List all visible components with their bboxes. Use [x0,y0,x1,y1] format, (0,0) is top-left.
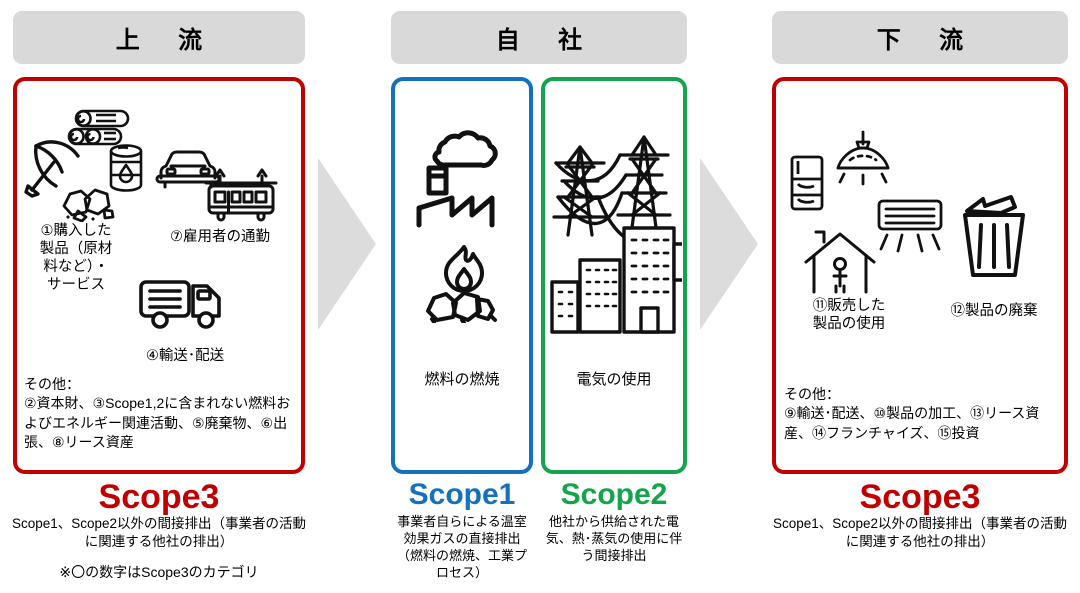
downstream-others-text: ⑨輸送･配送、⑩製品の加工、⑬リース資産、⑭フランチャイズ、⑮投資 [784,405,1039,440]
header-downstream: 下 流 [772,11,1068,64]
diagram-canvas: 上 流 自 社 下 流 [0,0,1080,593]
scope1-description: 事業者自らによる温室効果ガスの直接排出（燃料の燃焼、工業プロセス） [391,514,533,582]
header-own-company: 自 社 [391,11,687,64]
scope3-description-downstream: Scope1、Scope2以外の間接排出（事業者の活動に関連する他社の排出） [767,515,1073,550]
flame-coal-icon [420,245,508,323]
scope3-description-upstream: Scope1、Scope2以外の間接排出（事業者の活動に関連する他社の排出） [8,515,310,550]
upstream-item-label-purchased-goods: ①購入した 製品（原材 料など）・ サービス [22,222,130,295]
buildings-icon [548,222,682,340]
scope3-title-downstream: Scope3 [772,480,1068,514]
header-upstream: 上 流 [13,11,305,64]
downstream-item-label-use-of-sold-products: ⑪販売した 製品の使用 [790,297,908,333]
trash-bin-icon [955,185,1033,280]
house-person-icon [804,228,876,294]
truck-icon [138,278,224,332]
downstream-item-label-disposal: ⑫製品の廃棄 [930,302,1058,320]
downstream-others-label: その他： [784,386,840,402]
refrigerator-icon [789,155,825,213]
upstream-item-label-employee-commuting: ⑦雇用者の通勤 [150,228,290,246]
pendant-lamp-icon [832,130,894,190]
train-icon [202,168,280,228]
scope1-title: Scope1 [391,480,533,510]
scope2-title: Scope2 [541,480,687,510]
upstream-item-label-transport: ④輸送･配送 [110,347,260,365]
flow-arrow-upstream-to-own [318,158,376,330]
upstream-others-label: その他： [24,376,80,392]
flow-arrow-own-to-downstream [700,158,758,330]
scope1-caption: 燃料の燃焼 [391,371,533,390]
category-note: ※〇の数字はScope3のカテゴリ [8,564,310,581]
scope2-description: 他社から供給された電気、熱･蒸気の使用に伴う間接排出 [541,514,687,565]
factory-smoke-icon [413,128,513,230]
coal-rocks-icon [58,180,118,222]
scope2-caption: 電気の使用 [541,371,687,390]
air-conditioner-icon [875,197,947,259]
scope3-title-upstream: Scope3 [13,480,305,514]
upstream-others-text: ②資本財、③Scope1,2に含まれない燃料およびエネルギー関連活動、⑤廃棄物、… [24,395,290,450]
